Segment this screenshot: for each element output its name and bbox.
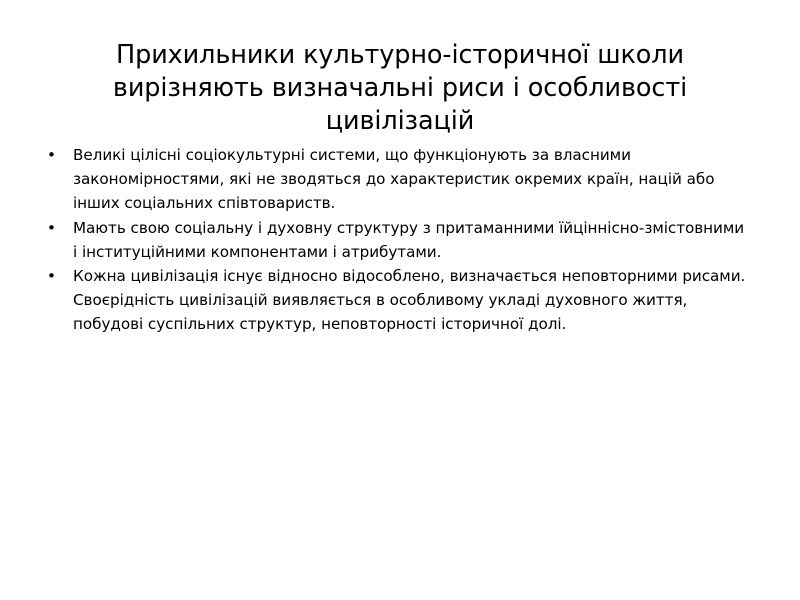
list-item: • Великі цілісні соціокультурні системи,…: [42, 143, 748, 216]
list-item-text: Кожна цивілізація існує відносно відособ…: [73, 264, 748, 337]
presentation-slide: Прихильники культурно-історичної школи в…: [0, 0, 800, 600]
bullet-point-icon: •: [47, 264, 61, 288]
bullet-point-icon: •: [47, 216, 61, 240]
list-item: • Мають свою соціальну і духовну структу…: [42, 216, 748, 264]
list-item-text: Мають свою соціальну і духовну структуру…: [73, 216, 748, 264]
slide-bullet-list: • Великі цілісні соціокультурні системи,…: [42, 143, 748, 337]
list-item: • Кожна цивілізація існує відносно відос…: [42, 264, 748, 337]
slide-title: Прихильники культурно-історичної школи в…: [60, 39, 740, 138]
bullet-point-icon: •: [47, 143, 61, 167]
list-item-text: Великі цілісні соціокультурні системи, щ…: [73, 143, 748, 216]
